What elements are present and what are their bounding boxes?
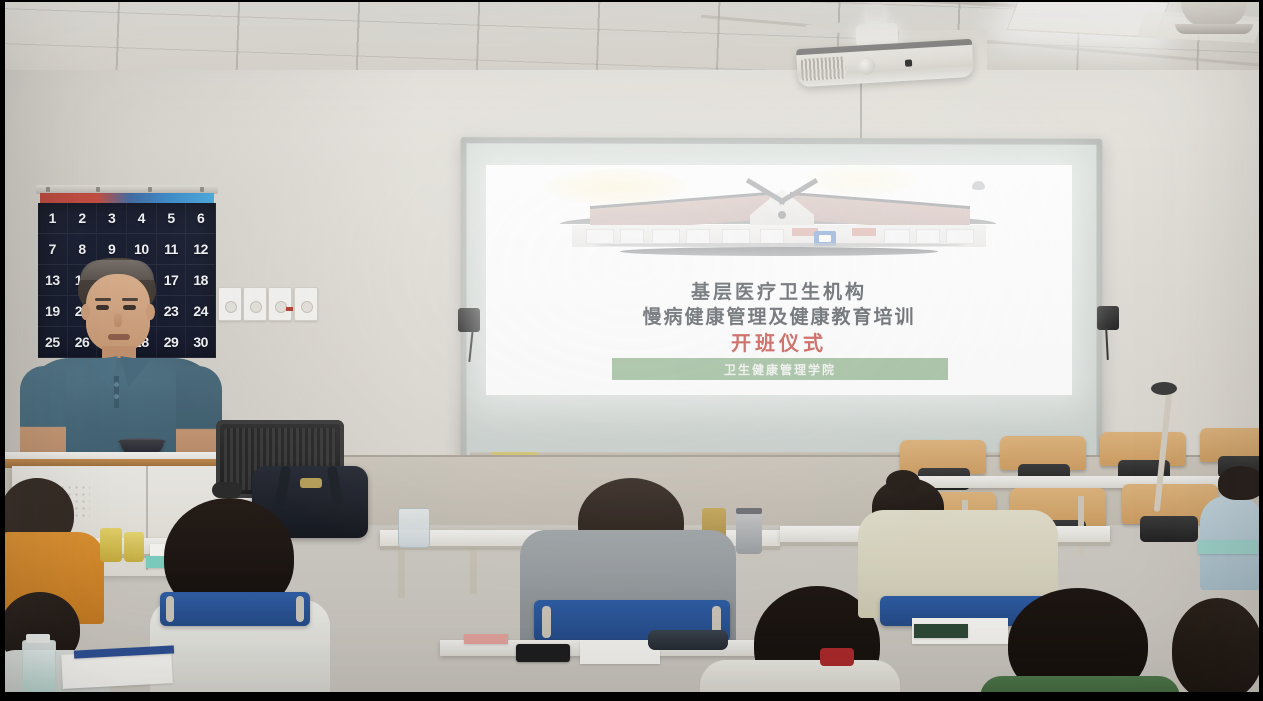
water-bottle[interactable] (22, 640, 56, 697)
juice-bottle[interactable] (124, 532, 144, 562)
whiteboard-clip-icon (1097, 306, 1119, 330)
notebook-cover[interactable] (914, 624, 968, 638)
building-window (620, 229, 644, 244)
backpack-buckle (300, 478, 322, 488)
slide-title-line-3: 开班仪式 (486, 327, 1072, 356)
smartphone-on-desk[interactable] (516, 644, 570, 662)
wall-knob-switch[interactable] (268, 287, 292, 321)
pocket-chart-number: 12 (193, 241, 208, 257)
pocket-chart-number: 6 (197, 210, 204, 226)
slide-title-line-1: 基层医疗卫生机构 (486, 277, 1072, 304)
hair-clip (820, 648, 854, 666)
knob-icon (225, 301, 237, 313)
desk-leg (398, 550, 405, 598)
pocket-chart-number: 7 (49, 241, 56, 257)
student-body (700, 660, 900, 701)
stationery[interactable] (464, 634, 508, 644)
knob-icon (301, 301, 313, 313)
classroom-photograph: 1234567891011121314151617181920212223242… (0, 0, 1263, 701)
projector-vent (801, 56, 846, 81)
knob-icon (250, 301, 262, 313)
building-window (916, 229, 940, 244)
pocket-chart-number: 9 (108, 241, 115, 257)
presenter-shirt-placket (114, 376, 119, 408)
building-window (760, 229, 784, 244)
building-window (884, 229, 910, 244)
ceiling-speaker-rim (1175, 24, 1253, 34)
presenter-shirt-button (114, 394, 119, 399)
seat-cushion[interactable] (1140, 516, 1198, 542)
pocket-chart-cell: 4 (127, 203, 157, 234)
slide-title-line-2: 慢病健康管理及健康教育培训 (486, 302, 1072, 329)
projector-sensor (905, 59, 912, 66)
building-window (652, 229, 680, 244)
slide-banner: 卫生健康管理学院 (612, 358, 948, 380)
pocket-chart-number: 10 (134, 241, 149, 257)
building-window (586, 229, 614, 244)
slide-banner-text: 卫生健康管理学院 (724, 361, 836, 378)
presenter-ear (146, 304, 155, 320)
presenter-eye (96, 305, 109, 310)
chair-rail (296, 596, 304, 622)
flask-cap (736, 508, 762, 514)
pocket-chart-cell: 3 (97, 203, 127, 234)
student-head (1172, 598, 1263, 701)
wall-knob-switch[interactable] (243, 287, 267, 321)
pocket-chart-number: 4 (138, 210, 145, 226)
chair-rail (542, 606, 551, 638)
presenter-nose (114, 313, 122, 327)
student-body-green (980, 676, 1180, 701)
glass-tumbler[interactable] (398, 508, 430, 548)
pocket-chart-cell: 2 (68, 203, 98, 234)
pocket-chart-cell: 1 (38, 203, 68, 234)
wall-control-panel[interactable] (218, 283, 319, 325)
pocket-chart-cell: 5 (157, 203, 187, 234)
chair-rail (166, 596, 174, 622)
pocket-chart-number: 8 (78, 241, 85, 257)
presenter-mouth (108, 334, 130, 340)
bottle-cap (26, 634, 50, 643)
student-hair-bun (886, 470, 920, 494)
building-window (686, 229, 710, 244)
presenter-ear (81, 304, 90, 320)
campus-building-photo (532, 187, 1026, 271)
projected-slide: · · · · · · · · (486, 165, 1072, 395)
sign-glyph-icon (819, 235, 831, 242)
whiteboard-clip-icon (458, 308, 480, 332)
building-plinth (620, 247, 938, 256)
student-head (1218, 466, 1263, 500)
juice-bottle[interactable] (100, 528, 122, 562)
microphone-head-icon (1151, 382, 1177, 395)
building-window (722, 229, 750, 244)
projector-lens (857, 57, 876, 76)
pocket-chart-number: 2 (78, 210, 85, 226)
wall-knob-switch[interactable] (294, 287, 318, 321)
indicator-light (286, 307, 293, 311)
building-gable-medallion (778, 211, 786, 219)
building-signage (852, 228, 876, 236)
presenter-eyebrow (122, 298, 138, 301)
building-window (946, 229, 974, 244)
chair-back-blue[interactable] (160, 592, 310, 626)
desk-leg (470, 550, 477, 594)
presenter-eyebrow (95, 298, 111, 301)
thermos-flask[interactable] (736, 512, 762, 554)
pocket-chart-number: 5 (167, 210, 174, 226)
presenter-shirt-button (114, 382, 119, 387)
notebook[interactable] (1198, 540, 1258, 554)
pocket-chart-cell: 6 (186, 203, 216, 234)
chair-armrest (212, 482, 242, 498)
pocket-chart-number: 11 (164, 241, 178, 257)
pencil-case[interactable] (648, 630, 728, 650)
pocket-chart-number: 1 (49, 210, 56, 226)
pocket-chart-number: 3 (108, 210, 115, 226)
presenter-eye (123, 305, 136, 310)
